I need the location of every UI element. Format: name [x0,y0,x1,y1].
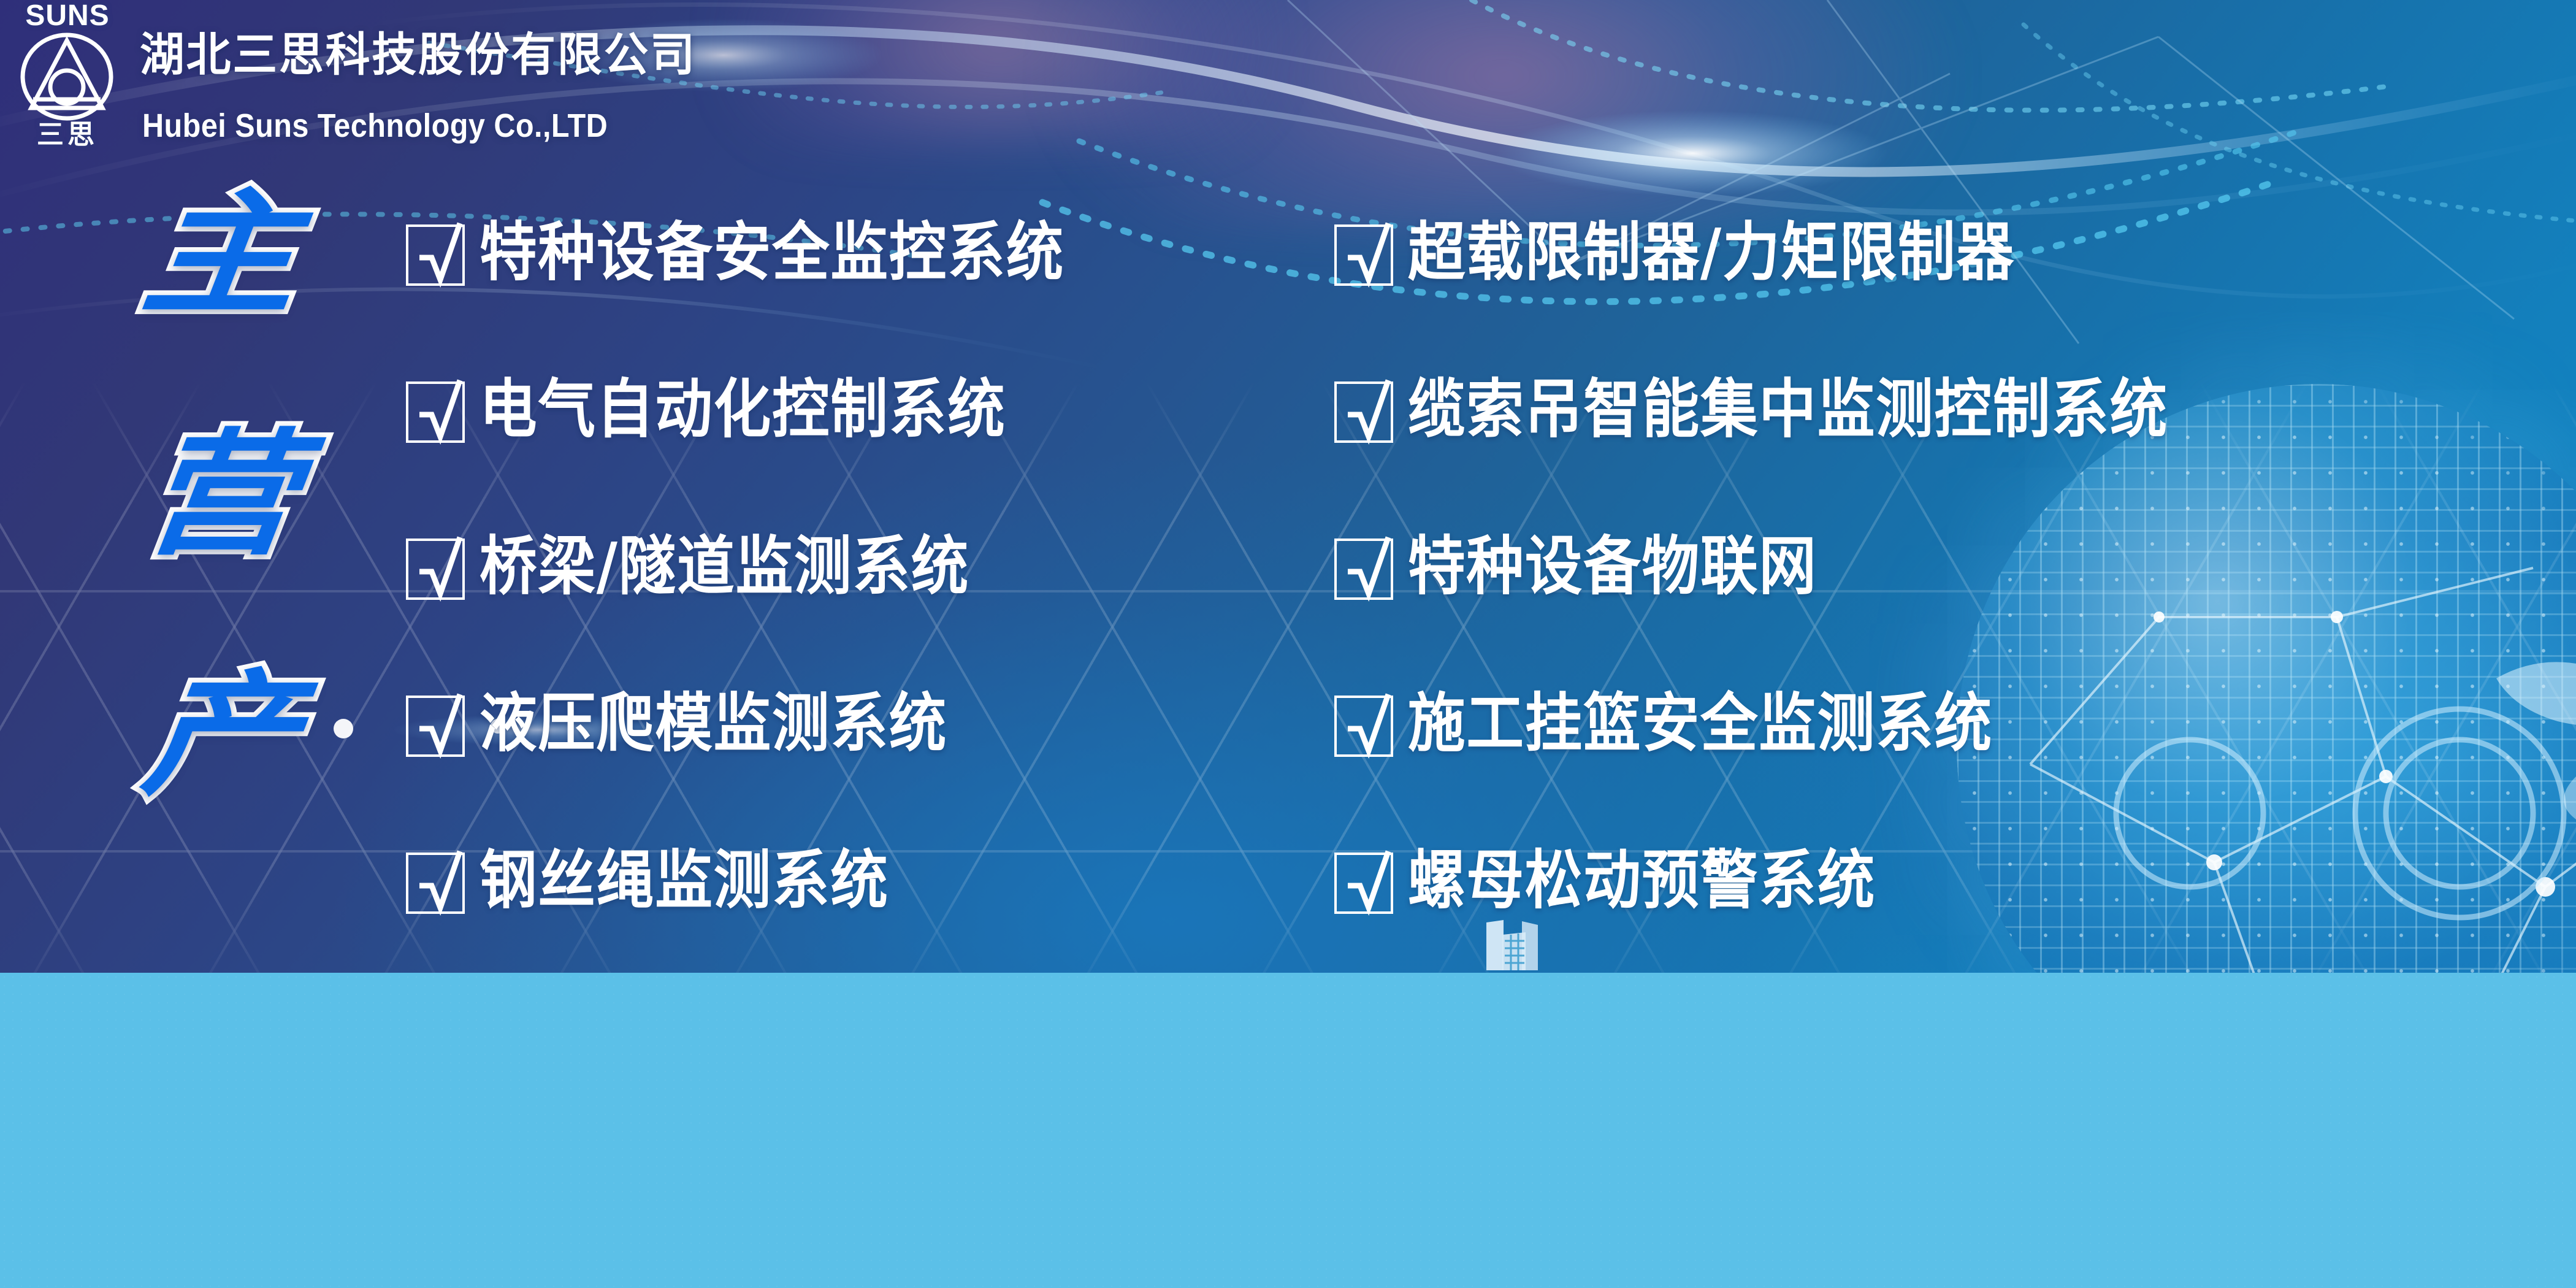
feature-item[interactable]: 液压爬模监测系统 [406,687,1301,844]
checkmark-box-icon[interactable] [1334,224,1393,286]
feature-label: 桥梁/隧道监测系统 [480,530,969,602]
feature-item[interactable]: 特种设备物联网 [1334,530,2499,687]
company-name-chinese: 湖北三思科技股份有限公司 [140,32,697,78]
feature-label: 电气自动化控制系统 [480,373,1006,445]
checkmark-box-icon[interactable] [1334,853,1393,914]
banner-artwork: SUNS 三思 湖北三思科技股份有限公司 Hubei Suns Technolo… [0,0,2576,973]
logo-chinese-name: 三思 [18,121,117,148]
checkmark-box-icon[interactable] [406,853,465,914]
feature-label: 特种设备物联网 [1408,530,1817,602]
checkmark-box-icon[interactable] [406,696,465,757]
checkmark-box-icon[interactable] [1334,539,1393,600]
feature-item[interactable]: 螺母松动预警系统 [1334,844,2499,973]
feature-item[interactable]: 桥梁/隧道监测系统 [406,530,1301,687]
feature-label: 钢丝绳监测系统 [480,844,889,916]
feature-list-right: 超载限制器/力矩限制器 缆索吊智能集中监测控制系统 特种设备物联网 施工挂篮安全… [1334,216,2499,973]
circle-triangle-logo-icon [18,31,115,123]
headline-char-2: 营 [97,427,344,562]
feature-label: 超载限制器/力矩限制器 [1408,216,2015,288]
banner-page: SUNS 三思 湖北三思科技股份有限公司 Hubei Suns Technolo… [0,0,2576,1288]
feature-item[interactable]: 超载限制器/力矩限制器 [1334,216,2499,373]
checkmark-box-icon[interactable] [1334,381,1393,443]
headline-char-1: 主 [97,187,344,322]
headline-char-3: 产 [97,668,344,803]
bottom-background-plate [0,973,2576,1288]
checkmark-box-icon[interactable] [1334,696,1393,757]
feature-item[interactable]: 缆索吊智能集中监测控制系统 [1334,373,2499,530]
checkmark-box-icon[interactable] [406,381,465,443]
feature-label: 液压爬模监测系统 [480,687,947,759]
feature-item[interactable]: 施工挂篮安全监测系统 [1334,687,2499,844]
feature-label: 特种设备安全监控系统 [480,216,1064,288]
feature-item[interactable]: 钢丝绳监测系统 [406,844,1301,973]
feature-item[interactable]: 特种设备安全监控系统 [406,216,1301,373]
feature-label: 螺母松动预警系统 [1408,844,1876,916]
feature-item[interactable]: 电气自动化控制系统 [406,373,1301,530]
company-name-english: Hubei Suns Technology Co.,LTD [142,109,608,142]
checkmark-box-icon[interactable] [406,224,465,286]
company-logo: SUNS 三思 [5,1,125,162]
checkmark-box-icon[interactable] [406,539,465,600]
feature-label: 缆索吊智能集中监测控制系统 [1408,373,2168,445]
headline-main-products: 主 营 产 [104,178,337,963]
brand-header: SUNS 三思 湖北三思科技股份有限公司 Hubei Suns Technolo… [0,0,858,172]
bottom-plate-texture [0,973,2576,1288]
logo-wordmark: SUNS [18,1,117,31]
feature-list-left: 特种设备安全监控系统 电气自动化控制系统 桥梁/隧道监测系统 液压爬模监测系统 [406,216,1301,973]
feature-label: 施工挂篮安全监测系统 [1408,687,1993,759]
